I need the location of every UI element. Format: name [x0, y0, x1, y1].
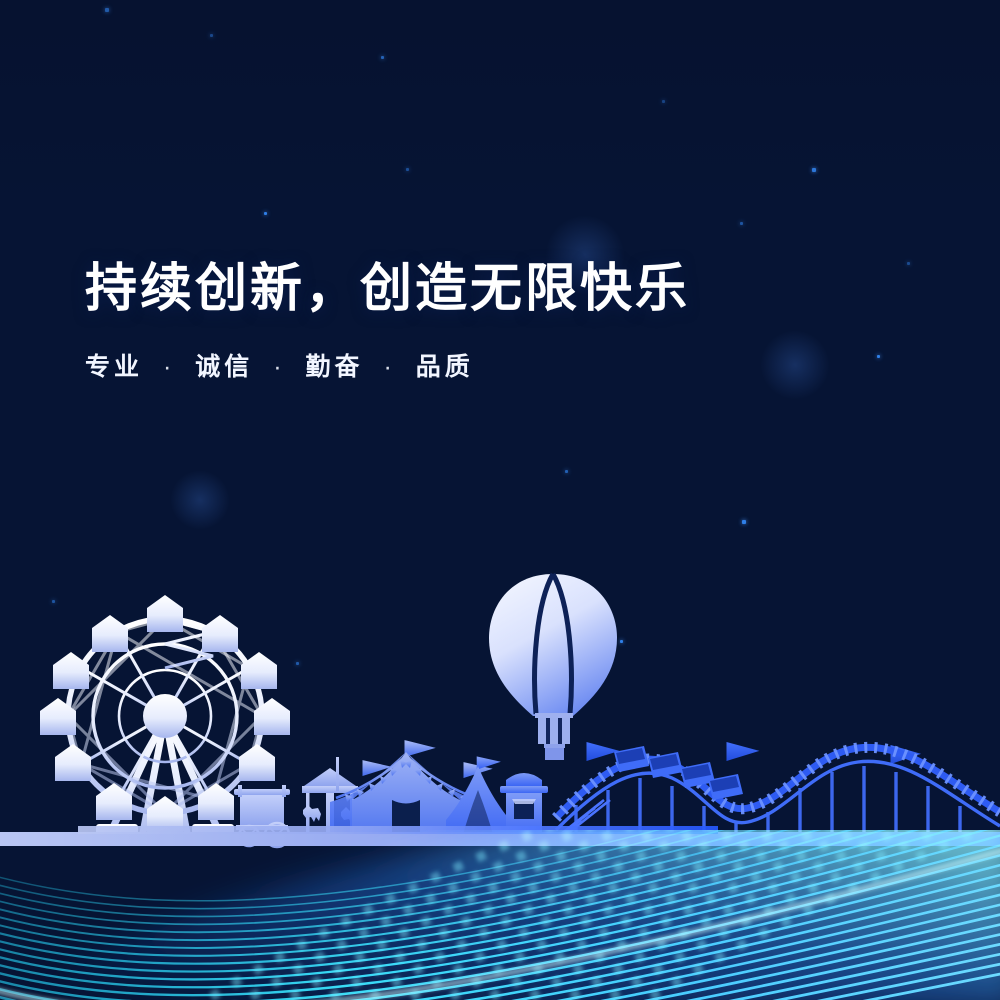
page-subtitle: 专业 · 诚信 · 勤奋 · 品质 [85, 347, 690, 383]
subtitle-item-2: 勤奋 [306, 353, 364, 381]
subtitle-separator: · [154, 353, 184, 381]
subtitle-item-3: 品质 [416, 353, 474, 381]
subtitle-separator: · [264, 353, 294, 381]
subtitle-item-1: 诚信 [195, 353, 253, 381]
subtitle-separator: · [374, 353, 404, 381]
page-title: 持续创新，创造无限快乐 [85, 262, 690, 317]
glowing-wave-lines [0, 0, 1000, 1000]
hero-text-block: 持续创新，创造无限快乐 专业 · 诚信 · 勤奋 · 品质 [85, 262, 690, 383]
subtitle-item-0: 专业 [85, 353, 143, 381]
poster-canvas: 持续创新，创造无限快乐 专业 · 诚信 · 勤奋 · 品质 [0, 0, 1000, 1000]
